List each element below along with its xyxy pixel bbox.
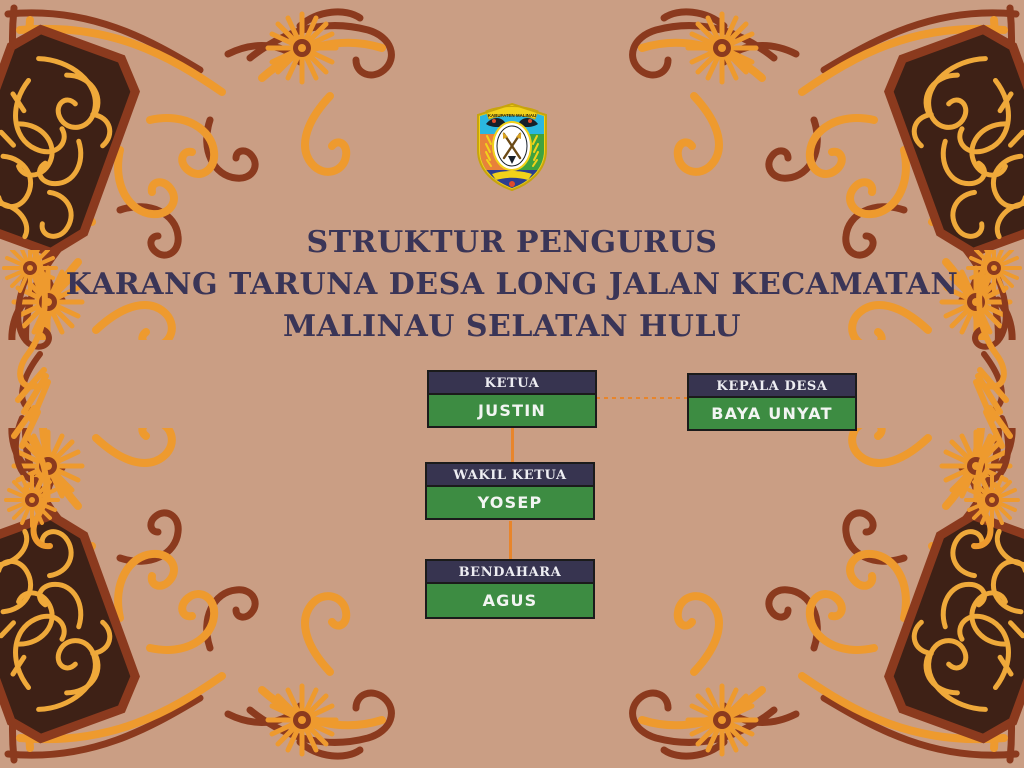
- org-chart: KETUA JUSTIN KEPALA DESA BAYA UNYAT WAKI…: [0, 0, 1024, 768]
- connector-ketua-to-kepala-desa: [596, 397, 688, 399]
- node-bendahara-role: BENDAHARA: [427, 561, 593, 584]
- node-wakil-ketua-role: WAKIL KETUA: [427, 464, 593, 487]
- node-wakil-ketua-name: YOSEP: [427, 487, 593, 518]
- node-kepala-desa[interactable]: KEPALA DESA BAYA UNYAT: [687, 373, 857, 431]
- node-wakil-ketua[interactable]: WAKIL KETUA YOSEP: [425, 462, 595, 520]
- node-bendahara[interactable]: BENDAHARA AGUS: [425, 559, 595, 619]
- node-ketua[interactable]: KETUA JUSTIN: [427, 370, 597, 428]
- node-bendahara-name: AGUS: [427, 584, 593, 617]
- node-kepala-desa-role: KEPALA DESA: [689, 375, 855, 398]
- node-ketua-name: JUSTIN: [429, 395, 595, 426]
- connector-ketua-to-wakil-ketua: [511, 428, 514, 464]
- node-kepala-desa-name: BAYA UNYAT: [689, 398, 855, 429]
- connector-wakil-ketua-to-bendahara: [509, 521, 512, 559]
- poster-canvas: KABUPATEN MALINAU STRUKTUR PENGURUS KARA…: [0, 0, 1024, 768]
- node-ketua-role: KETUA: [429, 372, 595, 395]
